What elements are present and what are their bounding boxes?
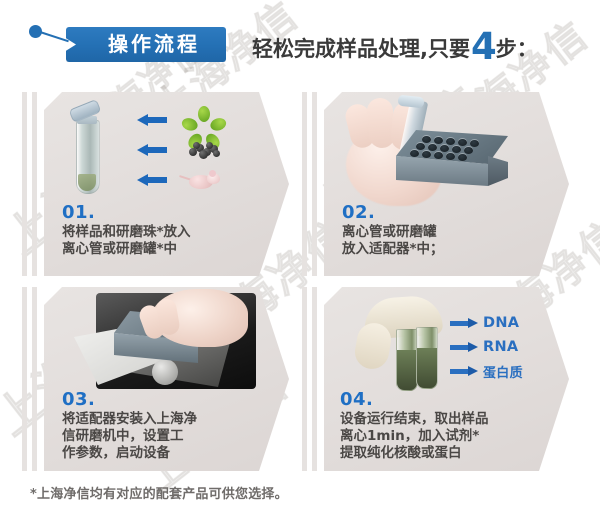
- mouse-icon: [181, 164, 225, 198]
- output-row-rna: RNA: [450, 335, 560, 359]
- output-labels: DNA RNA 蛋白质: [450, 311, 560, 383]
- sample-vial-icon: [416, 327, 438, 389]
- step-cell-2: 02. 离心管或研磨罐 放入适配器*中；: [302, 88, 592, 280]
- step-card-4[interactable]: DNA RNA 蛋白质 04.: [324, 287, 569, 471]
- output-row-dna: DNA: [450, 311, 560, 335]
- accent-bar-outer: [302, 287, 307, 471]
- step-cell-1: 01. 将样品和研磨珠*放入 离心管或研磨罐*中: [22, 88, 312, 280]
- sample-vial-icon: [396, 329, 418, 391]
- step-text-line: 放入适配器*中；: [342, 241, 557, 258]
- step-number: 01.: [62, 204, 277, 223]
- step-text-line: 信研磨机中，设置工: [62, 428, 277, 445]
- section-ribbon: 操作流程: [66, 27, 226, 62]
- output-row-protein: 蛋白质: [450, 359, 560, 383]
- output-label: RNA: [483, 339, 518, 355]
- step-number: 03.: [62, 391, 277, 410]
- grinder-machine-icon: [74, 289, 264, 401]
- step-text-line: 离心管或研磨罐*中: [62, 241, 277, 258]
- header: 操作流程 轻松完成样品处理,只要 4 步：: [0, 0, 600, 86]
- headline: 轻松完成样品处理,只要 4 步：: [252, 28, 538, 68]
- headline-prefix: 轻松完成样品处理,只要: [252, 33, 470, 63]
- accent-bar-outer: [302, 92, 307, 276]
- steps-grid: 01. 将样品和研磨珠*放入 离心管或研磨罐*中: [0, 86, 600, 476]
- step-card-1[interactable]: 01. 将样品和研磨珠*放入 离心管或研磨罐*中: [44, 92, 289, 276]
- step-card-2[interactable]: 02. 离心管或研磨罐 放入适配器*中；: [324, 92, 569, 276]
- step-1-illustration: [44, 92, 289, 210]
- step-text-line: 将适配器安装入上海净: [62, 411, 277, 428]
- accent-bar-inner: [312, 287, 317, 471]
- step-cell-4: DNA RNA 蛋白质 04.: [302, 283, 592, 475]
- grinding-beads-icon: [181, 134, 225, 168]
- accent-bar-inner: [312, 92, 317, 276]
- accent-bar-inner: [32, 287, 37, 471]
- headline-suffix: 步：: [496, 33, 538, 63]
- step-1-text: 01. 将样品和研磨珠*放入 离心管或研磨罐*中: [62, 204, 277, 258]
- arrow-left-icon: [137, 144, 167, 156]
- step-3-illustration: [44, 287, 289, 405]
- step-4-illustration: DNA RNA 蛋白质: [324, 287, 569, 405]
- sample-arrows: [44, 92, 289, 210]
- step-card-3[interactable]: 03. 将适配器安装入上海净 信研磨机中，设置工 作参数，启动设备: [44, 287, 289, 471]
- accent-bar-inner: [32, 92, 37, 276]
- step-2-illustration: [324, 92, 569, 210]
- headline-step-count: 4: [471, 31, 497, 62]
- ribbon-stem-icon: [40, 31, 69, 42]
- ribbon-label: 操作流程: [108, 35, 200, 55]
- step-text-line: 提取纯化核酸或蛋白: [340, 445, 555, 462]
- step-text-line: 设备运行结束，取出样品: [340, 411, 555, 428]
- plant-leaf-icon: [181, 102, 225, 136]
- step-text-line: 作参数，启动设备: [62, 445, 277, 462]
- output-label: 蛋白质: [483, 362, 523, 381]
- footer-note: *上海净信均有对应的配套产品可供您选择。: [30, 483, 288, 502]
- accent-bar-outer: [22, 92, 27, 276]
- infographic-root: 操作流程 轻松完成样品处理,只要 4 步：: [0, 0, 600, 526]
- accent-bar-outer: [22, 287, 27, 471]
- step-text-line: 将样品和研磨珠*放入: [62, 224, 277, 241]
- adapter-block-icon: [396, 130, 508, 186]
- step-number: 02.: [342, 204, 557, 223]
- step-cell-3: 03. 将适配器安装入上海净 信研磨机中，设置工 作参数，启动设备: [22, 283, 312, 475]
- arrow-right-icon: [450, 366, 478, 376]
- step-4-text: 04. 设备运行结束，取出样品 离心1min，加入试剂* 提取纯化核酸或蛋白: [340, 391, 555, 462]
- arrow-left-icon: [137, 174, 167, 186]
- step-text-line: 离心1min，加入试剂*: [340, 428, 555, 445]
- arrow-right-icon: [450, 318, 478, 328]
- arrow-right-icon: [450, 342, 478, 352]
- step-text-line: 离心管或研磨罐: [342, 224, 557, 241]
- step-2-text: 02. 离心管或研磨罐 放入适配器*中；: [342, 204, 557, 258]
- gloved-hand-icon: [354, 293, 464, 397]
- step-3-text: 03. 将适配器安装入上海净 信研磨机中，设置工 作参数，启动设备: [62, 391, 277, 462]
- step-number: 04.: [340, 391, 555, 410]
- arrow-left-icon: [137, 114, 167, 126]
- output-label: DNA: [483, 315, 519, 331]
